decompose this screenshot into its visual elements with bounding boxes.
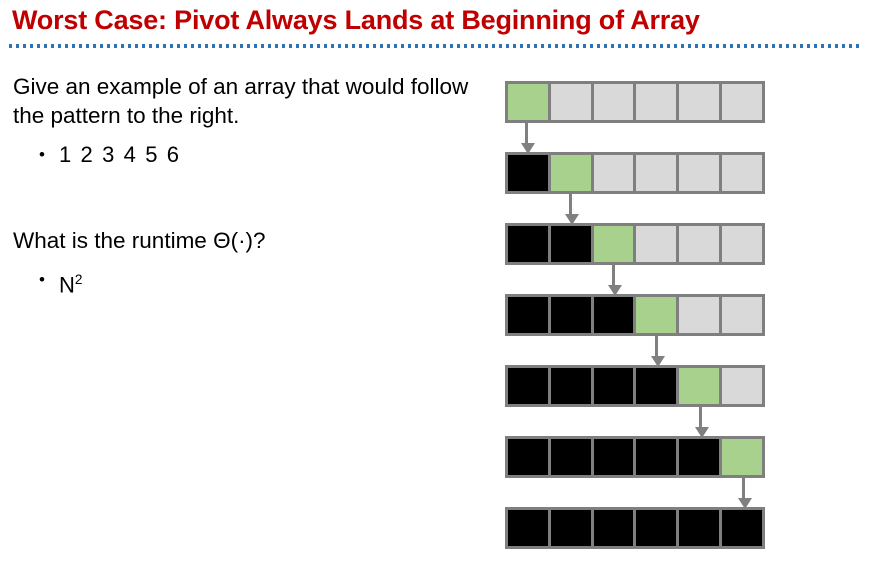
array-cell-sorted xyxy=(505,223,551,265)
array-cell-sorted xyxy=(505,152,551,194)
array-cell-sorted xyxy=(591,436,637,478)
array-row xyxy=(505,294,765,336)
array-cell-pivot xyxy=(548,152,594,194)
array-cell-sorted xyxy=(591,294,637,336)
array-cell-pivot xyxy=(633,294,679,336)
array-cell-sorted xyxy=(505,294,551,336)
runtime-block: What is the runtime Θ(·)? • N2 xyxy=(13,226,483,300)
array-cell-sorted xyxy=(548,365,594,407)
array-cell-sorted xyxy=(719,507,765,549)
array-cell-sorted xyxy=(548,294,594,336)
array-cell-sorted xyxy=(591,365,637,407)
array-cell-sorted xyxy=(505,436,551,478)
flow-arrow-shaft xyxy=(569,194,572,214)
array-row xyxy=(505,365,765,407)
array-cell-sorted xyxy=(633,365,679,407)
flow-arrow-shaft xyxy=(612,265,615,285)
flow-arrow-shaft xyxy=(742,478,745,498)
array-partition-diagram xyxy=(505,81,765,541)
array-cell-unsorted xyxy=(676,152,722,194)
array-cell-unsorted xyxy=(719,294,765,336)
array-cell-sorted xyxy=(633,436,679,478)
array-cell-unsorted xyxy=(676,223,722,265)
array-row xyxy=(505,436,765,478)
array-cell-sorted xyxy=(505,365,551,407)
array-cell-pivot xyxy=(676,365,722,407)
array-cell-unsorted xyxy=(719,81,765,123)
array-cell-unsorted xyxy=(633,81,679,123)
array-cell-sorted xyxy=(548,436,594,478)
array-cell-sorted xyxy=(676,436,722,478)
array-row xyxy=(505,223,765,265)
answer-runtime-exponent: 2 xyxy=(75,272,83,287)
array-cell-sorted xyxy=(676,507,722,549)
list-item: • 1 2 3 4 5 6 xyxy=(13,140,483,170)
array-cell-sorted xyxy=(548,507,594,549)
page-title: Worst Case: Pivot Always Lands at Beginn… xyxy=(12,5,700,36)
array-row xyxy=(505,152,765,194)
flow-arrow-shaft xyxy=(525,123,528,143)
array-cell-unsorted xyxy=(548,81,594,123)
array-cell-sorted xyxy=(633,507,679,549)
body-content: Give an example of an array that would f… xyxy=(13,72,483,300)
array-cell-pivot xyxy=(591,223,637,265)
bullet-icon: • xyxy=(39,140,59,170)
array-cell-unsorted xyxy=(591,81,637,123)
array-cell-sorted xyxy=(505,507,551,549)
title-divider xyxy=(9,44,863,48)
array-cell-unsorted xyxy=(719,152,765,194)
array-cell-sorted xyxy=(591,507,637,549)
array-cell-unsorted xyxy=(676,294,722,336)
array-cell-pivot xyxy=(719,436,765,478)
array-cell-unsorted xyxy=(591,152,637,194)
array-cell-pivot xyxy=(505,81,551,123)
array-cell-unsorted xyxy=(719,365,765,407)
question-prompt-runtime: What is the runtime Θ(·)? xyxy=(13,226,483,255)
answer-runtime-base: N xyxy=(59,272,75,297)
flow-arrow-shaft xyxy=(699,407,702,427)
flow-arrow-shaft xyxy=(655,336,658,356)
question-prompt-array: Give an example of an array that would f… xyxy=(13,72,483,130)
array-cell-unsorted xyxy=(633,152,679,194)
array-row xyxy=(505,81,765,123)
array-cell-unsorted xyxy=(676,81,722,123)
array-row xyxy=(505,507,765,549)
answer-array-example: 1 2 3 4 5 6 xyxy=(59,140,181,170)
array-cell-sorted xyxy=(548,223,594,265)
answer-runtime: N2 xyxy=(59,265,82,300)
bullet-icon: • xyxy=(39,265,59,295)
list-item: • N2 xyxy=(13,265,483,300)
array-cell-unsorted xyxy=(633,223,679,265)
array-cell-unsorted xyxy=(719,223,765,265)
